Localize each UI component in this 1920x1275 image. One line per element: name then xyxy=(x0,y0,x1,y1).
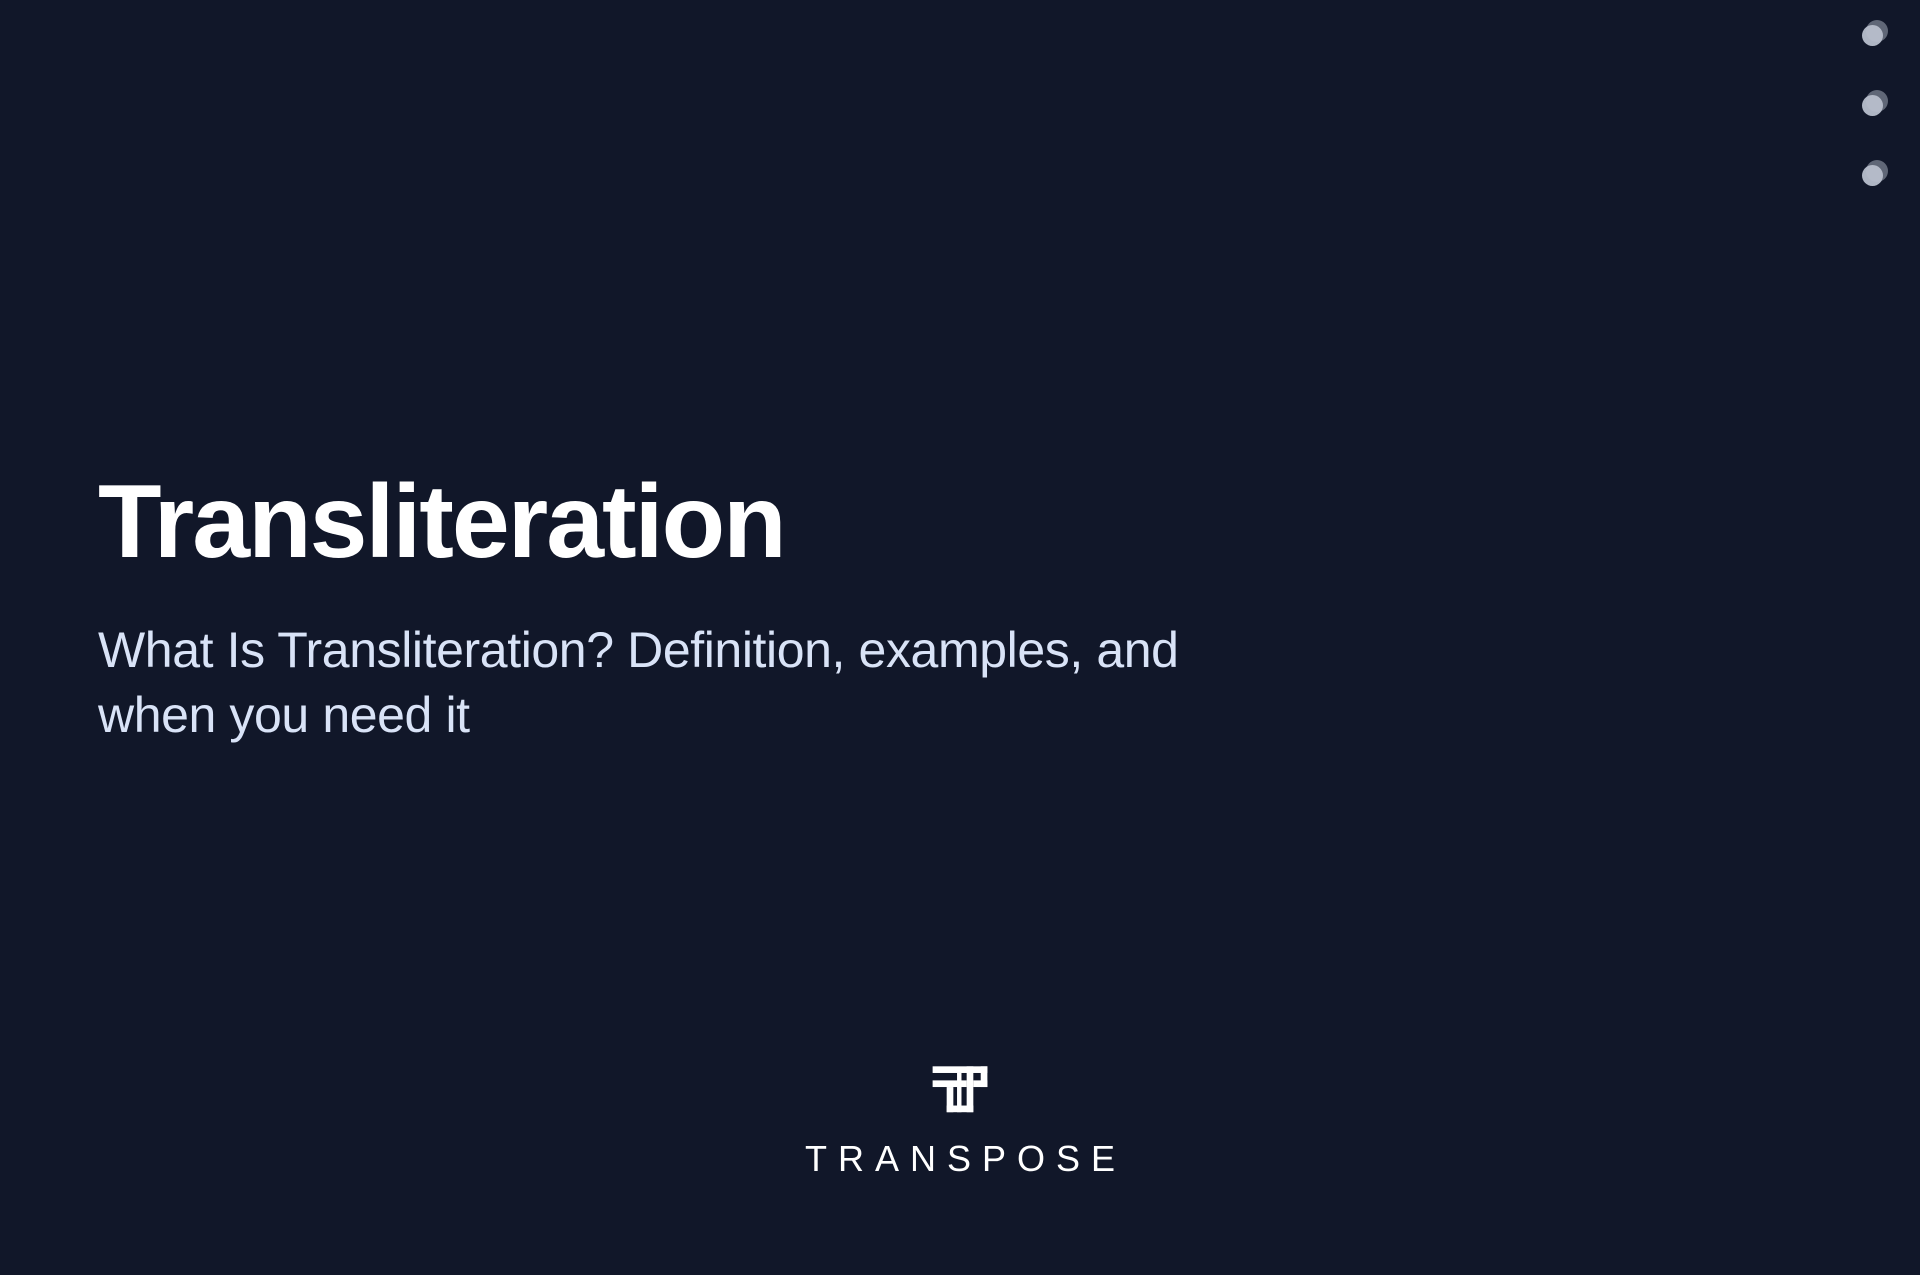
transpose-monogram-icon xyxy=(923,1053,997,1127)
brand-wordmark: TRANSPOSE xyxy=(794,1141,1126,1177)
indicator-dot-front-circle xyxy=(1862,25,1883,46)
title-slide: Transliteration What Is Transliteration?… xyxy=(0,0,1920,1275)
indicator-dot-3[interactable] xyxy=(1862,160,1888,186)
indicator-rail xyxy=(1850,0,1920,230)
indicator-dot-2[interactable] xyxy=(1862,90,1888,116)
indicator-dot-front-circle xyxy=(1862,165,1883,186)
indicator-dot-front-circle xyxy=(1862,95,1883,116)
page-title: Transliteration xyxy=(98,470,1518,574)
page-subtitle: What Is Transliteration? Definition, exa… xyxy=(98,618,1278,748)
indicator-dot-1[interactable] xyxy=(1862,20,1888,46)
slide-content: Transliteration What Is Transliteration?… xyxy=(98,470,1518,748)
brand-logo-lockup: TRANSPOSE xyxy=(0,1053,1920,1177)
